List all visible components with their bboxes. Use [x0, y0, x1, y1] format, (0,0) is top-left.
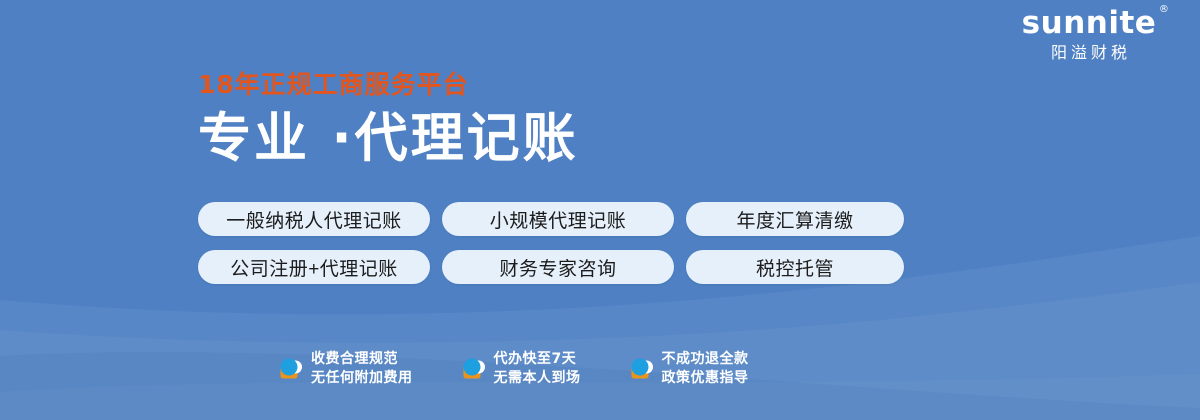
feature-item-refund: 不成功退全款 政策优惠指导	[627, 352, 749, 387]
service-pill-general-taxpayer-bookkeeping[interactable]: 一般纳税人代理记账	[198, 202, 430, 236]
feature-line-2: 无需本人到场	[494, 371, 581, 386]
service-pill-company-registration-bookkeeping[interactable]: 公司注册+代理记账	[198, 250, 430, 284]
service-pill-small-scale-bookkeeping[interactable]: 小规模代理记账	[442, 202, 674, 236]
brand-logo[interactable]: sunnite ® 阳溢财税	[994, 8, 1184, 62]
feature-text-speed: 代办快至7天 无需本人到场	[494, 352, 581, 387]
feature-text-pricing: 收费合理规范 无任何附加费用	[311, 352, 413, 387]
feature-text-refund: 不成功退全款 政策优惠指导	[662, 352, 749, 387]
registered-trademark-icon: ®	[1159, 5, 1170, 15]
feature-line-2: 政策优惠指导	[662, 371, 749, 386]
page-title: 专业 ·代理记账	[198, 110, 579, 167]
eyebrow-text: 18年正规工商服务平台	[198, 72, 579, 97]
feature-line-1: 不成功退全款	[662, 352, 749, 367]
service-pill-annual-settlement[interactable]: 年度汇算清缴	[686, 202, 904, 236]
feature-line-1: 代办快至7天	[494, 352, 581, 367]
service-pill-grid: 一般纳税人代理记账 小规模代理记账 年度汇算清缴 公司注册+代理记账 财务专家咨…	[198, 202, 904, 284]
logo-wordmark-text: sunnite	[1022, 5, 1157, 41]
service-pill-finance-expert-consulting[interactable]: 财务专家咨询	[442, 250, 674, 284]
logo-wordmark: sunnite ®	[1022, 8, 1157, 39]
headline-block: 18年正规工商服务平台 专业 ·代理记账	[198, 72, 579, 167]
feature-line-2: 无任何附加费用	[311, 371, 413, 386]
service-pill-tax-control-hosting[interactable]: 税控托管	[686, 250, 904, 284]
feature-item-speed: 代办快至7天 无需本人到场	[459, 352, 581, 387]
marketing-banner: sunnite ® 阳溢财税 18年正规工商服务平台 专业 ·代理记账 一般纳税…	[0, 0, 1200, 420]
dot-pair-icon	[627, 354, 653, 384]
dot-pair-icon	[459, 354, 485, 384]
feature-strip: 收费合理规范 无任何附加费用 代办快至7天 无需本人到场 不成功退全款	[276, 352, 749, 387]
logo-subtitle: 阳溢财税	[994, 46, 1184, 62]
dot-pair-icon	[276, 354, 302, 384]
feature-item-pricing: 收费合理规范 无任何附加费用	[276, 352, 413, 387]
feature-line-1: 收费合理规范	[311, 352, 413, 367]
